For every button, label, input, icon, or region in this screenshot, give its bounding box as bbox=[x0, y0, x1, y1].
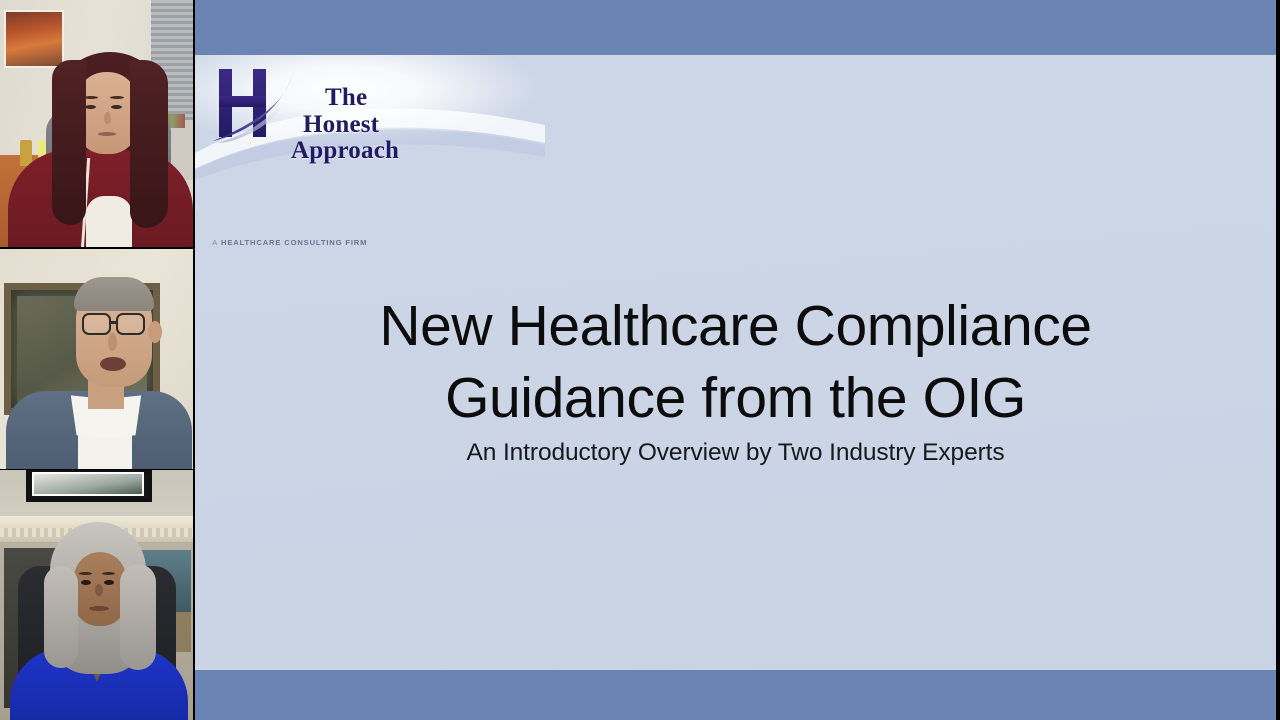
participant-1-brow-left bbox=[84, 96, 98, 99]
participant-1-nose bbox=[104, 112, 111, 124]
participant-1-mouth bbox=[98, 132, 116, 136]
participant-video-tile-2[interactable] bbox=[0, 249, 193, 470]
logo-word-line-1: The bbox=[291, 85, 471, 112]
participant-1-eye-left bbox=[85, 105, 96, 109]
participant-2-ear bbox=[148, 321, 162, 343]
participant-1-hair-right bbox=[130, 60, 168, 228]
logo-tagline: A HEALTHCARE CONSULTING FIRM bbox=[212, 238, 367, 247]
slide-content-area: The Honest Approach A HEALTHCARE CONSULT… bbox=[195, 55, 1276, 670]
participant-3-brow-right bbox=[102, 572, 115, 575]
eyeglasses-bridge bbox=[111, 321, 117, 324]
participant-2-mouth-speaking bbox=[100, 357, 126, 371]
slide-title-line-2: Guidance from the OIG bbox=[195, 363, 1276, 435]
company-logo: The Honest Approach A HEALTHCARE CONSULT… bbox=[209, 63, 509, 203]
participant-3-brow-left bbox=[79, 572, 92, 575]
participant-2-nose bbox=[108, 333, 117, 351]
participant-1-white-top bbox=[86, 196, 132, 249]
participant-3-mouth bbox=[89, 606, 109, 611]
participant-3-nose bbox=[95, 584, 103, 596]
participant-1-video-frame bbox=[0, 0, 193, 249]
logo-wordmark: The Honest Approach bbox=[291, 85, 471, 165]
participant-3-video-frame bbox=[0, 470, 193, 720]
participant-video-tile-3[interactable] bbox=[0, 470, 193, 720]
logo-word-line-3: Approach bbox=[291, 138, 471, 165]
participant-2-video-frame bbox=[0, 249, 193, 470]
participant-3-curl-right bbox=[120, 564, 156, 670]
participant-1-hair-left bbox=[52, 60, 86, 225]
logo-tagline-text: HEALTHCARE CONSULTING FIRM bbox=[221, 238, 367, 247]
participant-3-eye-left bbox=[81, 580, 91, 585]
participant-3-curl-left bbox=[44, 566, 78, 668]
participant-1-brow-right bbox=[110, 96, 124, 99]
participant-video-tile-1[interactable] bbox=[0, 0, 193, 249]
eyeglasses-lens-left bbox=[82, 313, 111, 335]
letter-h-swoosh-icon bbox=[209, 63, 301, 149]
logo-tagline-lead: A bbox=[212, 238, 218, 247]
participant-1-eye-right bbox=[111, 105, 122, 109]
participant-3-eye-right bbox=[104, 580, 114, 585]
slide-bottom-band bbox=[195, 670, 1276, 720]
logo-word-line-2: Honest bbox=[291, 112, 471, 139]
shared-slide[interactable]: The Honest Approach A HEALTHCARE CONSULT… bbox=[195, 0, 1278, 720]
slide-top-band bbox=[195, 0, 1276, 55]
participant-video-rail bbox=[0, 0, 193, 720]
participant-2-hair bbox=[74, 277, 154, 311]
framed-picture-image bbox=[32, 472, 144, 496]
eyeglasses-lens-right bbox=[116, 313, 145, 335]
slide-canvas: The Honest Approach A HEALTHCARE CONSULT… bbox=[195, 0, 1276, 720]
slide-title: New Healthcare Compliance Guidance from … bbox=[195, 291, 1276, 435]
slide-title-line-1: New Healthcare Compliance bbox=[195, 291, 1276, 363]
slide-subtitle: An Introductory Overview by Two Industry… bbox=[195, 439, 1276, 467]
wall-art-landscape bbox=[4, 10, 64, 68]
screen-share-stage: The Honest Approach A HEALTHCARE CONSULT… bbox=[0, 0, 1280, 720]
